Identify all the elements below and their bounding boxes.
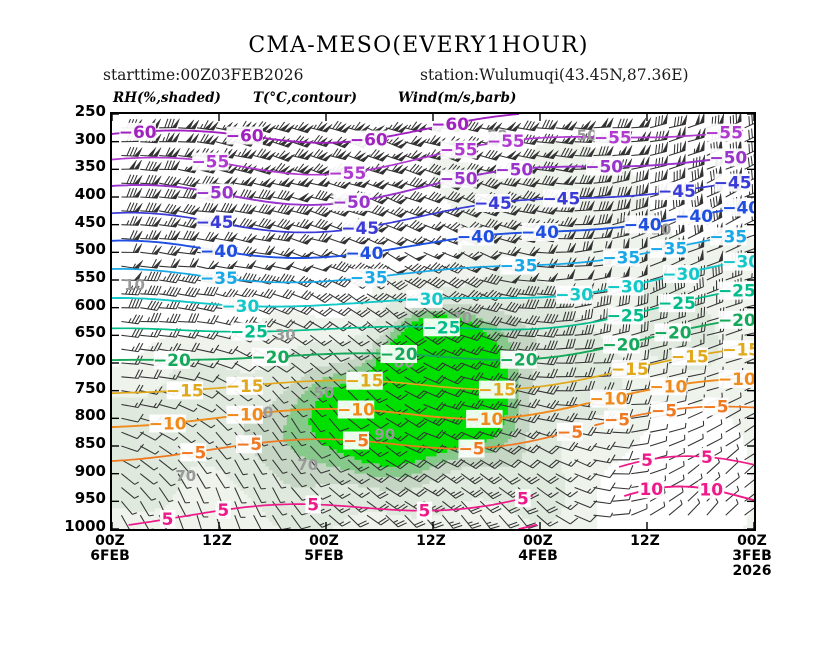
contour-label--50: −50 [709,148,747,168]
rh-label: 70 [175,467,196,485]
y-tick-650: 650 [75,325,106,340]
contour-label--15: −15 [611,360,649,380]
contour-label--5: −5 [343,432,369,452]
x-tick-time: 00Z [75,534,145,549]
contour-label--45: −45 [658,182,696,202]
x-tick-time: 00Z [717,534,787,549]
contour-label--15: −15 [226,377,264,397]
x-tick-time: 00Z [503,534,573,549]
contour-label--50: −50 [585,158,623,178]
contour-label--60: −60 [226,127,264,147]
x-tick-time: 12Z [182,534,252,549]
contour-label--30: −30 [662,265,700,285]
contour-label--40: −40 [722,198,754,218]
contour-label--30: −30 [221,297,259,317]
rh-label: 50 [313,384,334,402]
contour-label--5: −5 [651,402,677,422]
contour-label--5: −5 [180,443,206,463]
legend-rh: RH(%,shaded) [113,90,221,106]
contour-label--25: −25 [423,318,461,338]
contour-label--5: −5 [557,423,583,443]
contour-label--55: −55 [328,164,366,184]
contour-label--50: −50 [196,184,234,204]
x-tick-time: 12Z [610,534,680,549]
contour-label-5: 5 [162,510,174,529]
contour-label--25: −25 [607,306,645,326]
y-tick-600: 600 [75,298,106,313]
y-tick-350: 350 [75,159,106,174]
contour-label--20: −20 [602,336,640,356]
contour-label--30: −30 [607,277,645,297]
contour-label-5: 5 [517,489,529,509]
contour-label--55: −55 [440,141,478,161]
contour-label--15: −15 [346,372,384,392]
contour-label-5: 5 [418,502,430,522]
contour-label--15: −15 [671,348,709,368]
y-tick-400: 400 [75,187,106,202]
y-tick-850: 850 [75,436,106,451]
contour-label--20: −20 [251,348,289,368]
x-tick-group-5: 12Z [610,534,680,549]
y-tick-800: 800 [75,408,106,423]
contour-label--60: −60 [119,123,157,143]
contour-label--10: −10 [465,410,503,430]
x-tick-group-2: 00Z5FEB [289,534,359,564]
contour-label--40: −40 [675,207,713,227]
x-tick-group-1: 12Z [182,534,252,549]
y-tick-700: 700 [75,353,106,368]
contour-label--55: −55 [487,132,525,152]
y-tick-250: 250 [75,104,106,119]
subtitle-row: starttime:00Z03FEB2026 station:Wulumuqi(… [0,66,837,88]
rh-label: 30 [275,326,296,344]
plot-svg: 1010307050507080907050505080 −60−60−60−6… [112,114,754,529]
contour-label--10: −10 [226,406,264,426]
x-tick-time: 12Z [396,534,466,549]
x-tick-date: 6FEB [75,549,145,564]
y-tick-550: 550 [75,270,106,285]
plot-area: 1010307050507080907050505080 −60−60−60−6… [110,112,756,531]
y-tick-500: 500 [75,242,106,257]
x-tick-date: 4FEB [503,549,573,564]
x-axis: 00Z6FEB12Z00Z5FEB12Z00Z4FEB12Z00Z3FEB202… [110,534,756,604]
contour-label--10: −10 [649,377,687,397]
contour-label--30: −30 [405,290,443,310]
contour-label--35: −35 [602,248,640,268]
page-title: CMA-MESO(EVERY1HOUR) [0,33,837,58]
contour-label--50: −50 [495,161,533,181]
contour-label--50: −50 [333,193,371,213]
x-tick-group-3: 12Z [396,534,466,549]
y-axis: 2503003504004505005506006507007508008509… [58,112,106,531]
x-tick-date: 5FEB [289,549,359,564]
contour-label--20: −20 [654,323,692,343]
contour-label-5: 5 [307,495,319,515]
x-tick-group-0: 00Z6FEB [75,534,145,564]
contour-label--45: −45 [542,190,580,210]
contour-label--15: −15 [166,381,204,401]
contour-label--35: −35 [500,257,538,277]
chart-canvas: CMA-MESO(EVERY1HOUR) starttime:00Z03FEB2… [0,0,837,647]
y-tick-300: 300 [75,132,106,147]
rh-label: 90 [374,425,395,443]
contour-label--40: −40 [457,227,495,247]
contour-label-10: 10 [699,481,723,501]
contour-label--50: −50 [440,170,478,190]
legend-wind: Wind(m/s,barb) [398,90,516,106]
x-tick-group-4: 00Z4FEB [503,534,573,564]
contour-label--5: −5 [604,411,630,431]
contour-label--55: −55 [191,153,229,173]
contour-label--35: −35 [350,269,388,289]
contour-label--45: −45 [196,213,234,233]
contour-label--40: −40 [521,223,559,243]
legend: RH(%,shaded) T(°C,contour) Wind(m/s,barb… [0,90,837,110]
contour-label--40: −40 [200,242,238,262]
contour-label--5: −5 [236,435,262,455]
contour-label--25: −25 [718,282,754,302]
x-tick-date: 3FEB [717,549,787,564]
contour-label--10: −10 [718,370,754,390]
y-tick-1000: 1000 [64,519,106,534]
contour-label-5: 5 [641,451,653,471]
y-tick-750: 750 [75,381,106,396]
y-tick-900: 900 [75,464,106,479]
contour-label--30: −30 [722,253,754,273]
x-tick-group-6: 00Z3FEB2026 [717,534,787,579]
contour-label--15: −15 [722,340,754,360]
contour-label--40: −40 [346,244,384,264]
contour-label-10: 10 [639,480,663,500]
contour-label-5: 5 [217,501,229,521]
contour-label--35: −35 [200,269,238,289]
contour-label--30: −30 [555,286,593,306]
contour-label--5: −5 [458,440,484,460]
y-tick-450: 450 [75,215,106,230]
contour-label--20: −20 [380,345,418,365]
contour-label--20: −20 [718,311,754,331]
contour-label--5: −5 [702,398,728,418]
contour-label--45: −45 [474,194,512,214]
x-tick-year: 2026 [717,564,787,579]
contour-label--60: −60 [350,131,388,151]
contour-label--25: −25 [658,294,696,314]
starttime-label: starttime:00Z03FEB2026 [103,66,303,84]
contour-label--10: −10 [149,415,187,435]
contour-label--40: −40 [624,215,662,235]
rh-label: 70 [297,456,318,474]
contour-label--20: −20 [500,351,538,371]
contour-label--55: −55 [594,128,632,148]
contour-label--20: −20 [153,351,191,371]
contour-label--10: −10 [337,401,375,421]
legend-temp: T(°C,contour) [253,90,357,106]
contour-label--45: −45 [714,174,752,194]
station-label: station:Wulumuqi(43.45N,87.36E) [420,66,689,84]
y-tick-950: 950 [75,491,106,506]
rh-label: 10 [124,276,145,294]
contour-label--55: −55 [705,124,743,144]
contour-label--35: −35 [709,227,747,247]
contour-label--60: −60 [431,115,469,135]
x-tick-time: 00Z [289,534,359,549]
contour-label--45: −45 [341,219,379,239]
contour-label--10: −10 [590,390,628,410]
contour-label--25: −25 [230,323,268,343]
contour-label-5: 5 [701,448,713,468]
contour-label--35: −35 [649,240,687,260]
contour-label--15: −15 [478,381,516,401]
